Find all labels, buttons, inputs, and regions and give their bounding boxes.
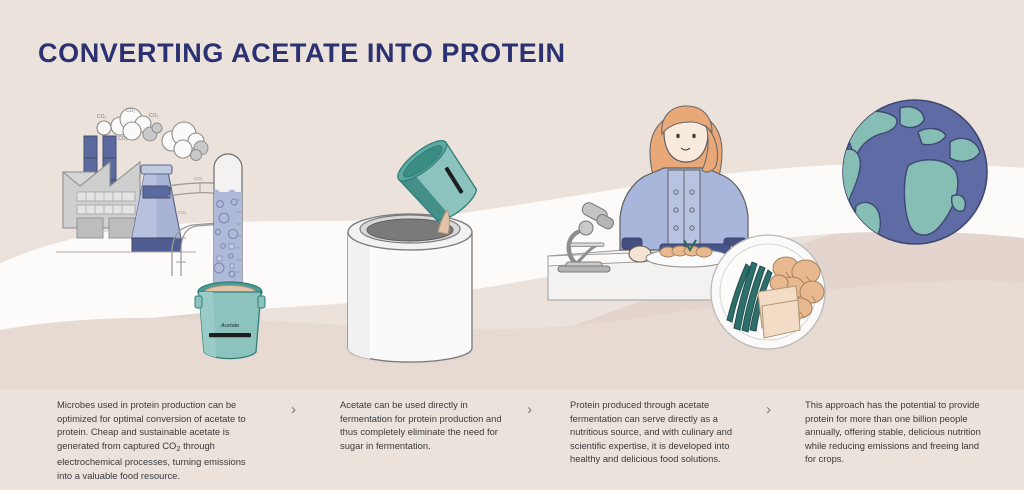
step-captions: Microbes used in protein production can …: [0, 388, 1024, 490]
svg-text:CO₂: CO₂: [178, 210, 187, 215]
caption-step-1: Microbes used in protein production can …: [57, 398, 262, 483]
svg-text:CO₂: CO₂: [97, 114, 107, 120]
caption-step-4: This approach has the potential to provi…: [805, 398, 983, 466]
acetate-bucket-label: Acetate: [220, 323, 239, 329]
svg-text:CO₂: CO₂: [126, 108, 136, 114]
caption-step-1-text-a: Microbes used in protein production can …: [57, 399, 246, 451]
caption-step-3: Protein produced through acetate ferment…: [570, 398, 748, 466]
chef-scientist: [620, 106, 748, 267]
caption-step-2: Acetate can be used directly in fermenta…: [340, 398, 518, 452]
svg-text:CO₂: CO₂: [118, 136, 128, 142]
svg-text:CO₂: CO₂: [149, 113, 159, 119]
factory-group: CO₂ CO₂ CO₂ CO₂: [56, 108, 208, 252]
chevron-right-icon-3: ›: [766, 402, 771, 417]
plate-of-protein-food: [711, 235, 825, 349]
illustration-canvas: CO₂ CO₂ CO₂ CO₂: [0, 0, 1024, 390]
factory-building: [63, 162, 140, 238]
fermentation-tank: [348, 214, 472, 364]
infographic-root: CONVERTING ACETATE INTO PROTEIN: [0, 0, 1024, 490]
chevron-right-icon-1: ›: [291, 402, 296, 417]
svg-text:CO₂: CO₂: [194, 176, 203, 181]
earth-globe: [841, 100, 987, 244]
acetate-bucket: Acetate: [195, 282, 265, 359]
chevron-right-icon-2: ›: [527, 402, 532, 417]
